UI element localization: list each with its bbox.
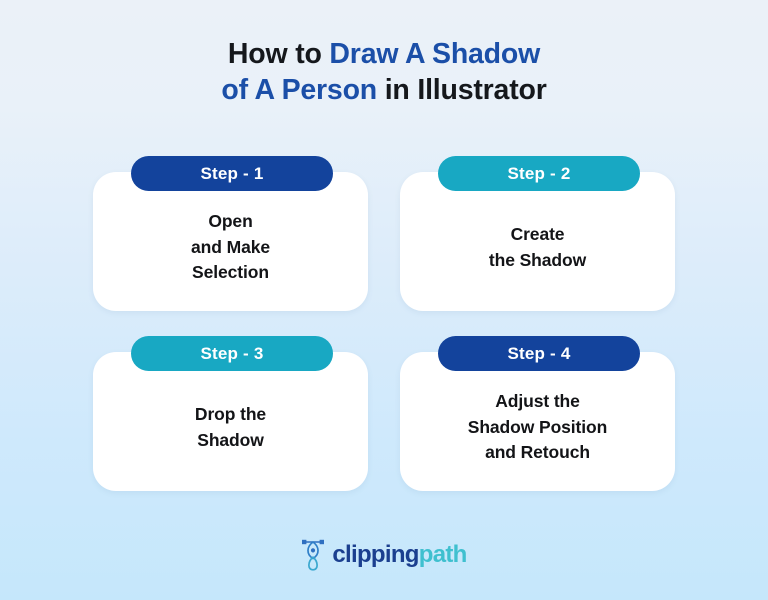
page-title-line-1-accent: Draw A Shadow — [329, 38, 540, 70]
step-card-3-body-panel: Drop the Shadow — [93, 352, 368, 491]
step-card-4-body-panel: Adjust the Shadow Position and Retouch — [400, 352, 675, 491]
step-card-1-badge: Step - 1 — [131, 156, 333, 191]
step-card-3-body-line-1: Drop the — [109, 402, 352, 428]
step-card-4-body-line-2: Shadow Position — [416, 415, 659, 441]
brand-logo: clippingpath — [0, 538, 768, 572]
page-title-line-1-prefix: How to — [228, 38, 330, 70]
brand-logo-word-primary: clipping — [332, 541, 418, 568]
page-title-line-2: of A Person in Illustrator — [0, 72, 768, 108]
step-card-2-body-panel: Create the Shadow — [400, 172, 675, 311]
step-card-1-body-line-3: Selection — [109, 260, 352, 286]
step-card-1-body-line-1: Open — [109, 209, 352, 235]
step-card-2-body-line-1: Create — [416, 222, 659, 248]
step-card-2-body-line-2: the Shadow — [416, 248, 659, 274]
brand-logo-word-secondary: path — [419, 541, 467, 568]
pen-path-anchor-icon — [301, 538, 325, 572]
step-card-2-body: Create the Shadow — [416, 222, 659, 273]
step-card-3-body-line-2: Shadow — [109, 428, 352, 454]
step-card-4-body: Adjust the Shadow Position and Retouch — [416, 389, 659, 466]
page-title-line-2-accent: of A Person — [221, 74, 377, 106]
page-title-line-2-suffix: in Illustrator — [377, 74, 547, 106]
step-card-4-body-line-3: and Retouch — [416, 440, 659, 466]
step-card-3[interactable]: Drop the Shadow Step - 3 — [93, 336, 368, 491]
infographic-canvas: How to Draw A Shadow of A Person in Illu… — [0, 0, 768, 600]
brand-logo-wordmark: clippingpath — [332, 543, 466, 567]
page-title: How to Draw A Shadow of A Person in Illu… — [0, 36, 768, 109]
step-card-4[interactable]: Adjust the Shadow Position and Retouch S… — [400, 336, 675, 491]
step-card-1[interactable]: Open and Make Selection Step - 1 — [93, 156, 368, 311]
steps-grid: Open and Make Selection Step - 1 Create … — [93, 156, 675, 491]
step-card-2[interactable]: Create the Shadow Step - 2 — [400, 156, 675, 311]
step-card-4-badge: Step - 4 — [438, 336, 640, 371]
page-title-line-1: How to Draw A Shadow — [0, 36, 768, 72]
step-card-3-body: Drop the Shadow — [109, 402, 352, 453]
step-card-2-badge: Step - 2 — [438, 156, 640, 191]
step-card-1-body: Open and Make Selection — [109, 209, 352, 286]
step-card-1-body-panel: Open and Make Selection — [93, 172, 368, 311]
step-card-1-body-line-2: and Make — [109, 235, 352, 261]
step-card-3-badge: Step - 3 — [131, 336, 333, 371]
step-card-4-body-line-1: Adjust the — [416, 389, 659, 415]
